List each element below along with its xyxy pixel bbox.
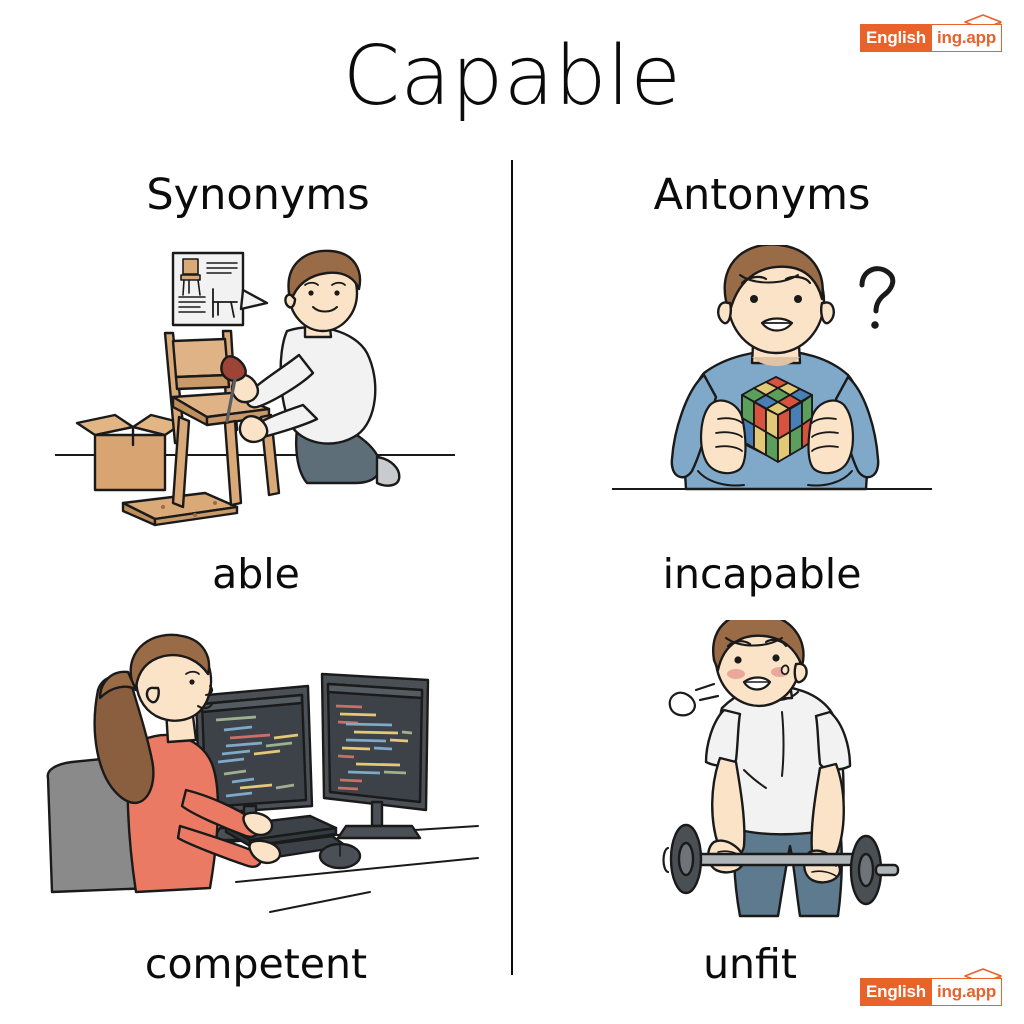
label-incapable: incapable (506, 550, 1018, 598)
illustration-incapable (612, 245, 932, 515)
illustration-able (55, 245, 455, 535)
wooden-chair (165, 331, 279, 507)
monitor-right (322, 674, 428, 838)
label-competent: competent (0, 940, 512, 988)
person-assembling (221, 251, 399, 486)
brand-logo-top[interactable]: English ing.app (860, 12, 1006, 58)
antonyms-heading: Antonyms (506, 170, 1018, 220)
label-able: able (0, 550, 512, 598)
synonyms-heading: Synonyms (2, 170, 514, 220)
computer-mouse (320, 844, 360, 868)
logo-text-english: English (860, 24, 931, 52)
antonyms-column: Antonyms (512, 160, 1024, 1024)
label-unfit: unfit (494, 940, 1006, 988)
logo-text-ingapp: ing.app (931, 24, 1002, 52)
rubiks-cube (742, 377, 812, 462)
illustration-competent (40, 630, 480, 920)
illustration-unfit (640, 620, 920, 920)
synonyms-column: Synonyms (0, 160, 512, 1024)
instruction-manual (173, 253, 267, 325)
breath-puff-icon (670, 684, 718, 715)
question-mark-icon (862, 269, 893, 328)
cardboard-box (77, 415, 183, 490)
